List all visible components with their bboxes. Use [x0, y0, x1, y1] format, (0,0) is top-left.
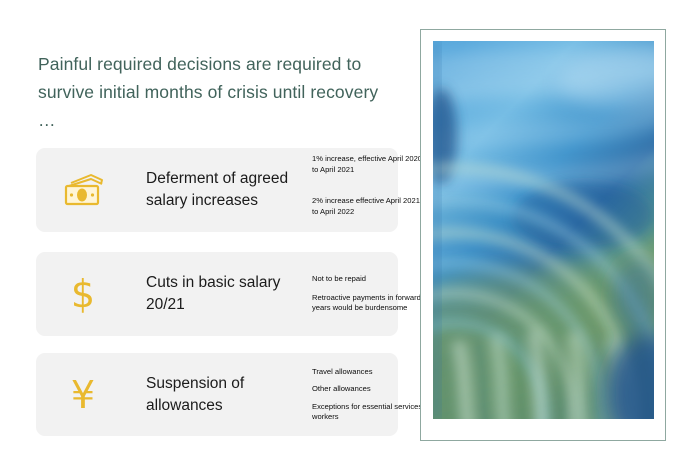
card-heading: Suspension of allowances [146, 353, 306, 436]
card-heading: Cuts in basic salary 20/21 [146, 252, 306, 336]
detail-line: Travel allowances [312, 367, 428, 378]
measure-card-allowances[interactable]: ¥ Suspension of allowances Travel allowa… [36, 353, 398, 436]
detail-line: Exceptions for essential services worker… [312, 402, 428, 423]
left-content-column: Painful required decisions are required … [0, 0, 410, 464]
card-details: Not to be repaid Retroactive payments in… [312, 252, 428, 336]
card-details: Travel allowances Other allowances Excep… [312, 353, 428, 436]
water-ripple-photo [433, 41, 654, 419]
yen-sign-glyph: ¥ [71, 376, 95, 414]
dollar-sign-glyph: $ [71, 275, 95, 313]
detail-line: 1% increase, effective April 2020 to Apr… [312, 154, 428, 175]
banknotes-icon [52, 148, 114, 232]
page-title: Painful required decisions are required … [38, 50, 383, 134]
card-details: 1% increase, effective April 2020 to Apr… [312, 148, 428, 232]
detail-line: Retroactive payments in forward years wo… [312, 293, 428, 314]
detail-line: Not to be repaid [312, 274, 428, 285]
dollar-sign-icon: $ [52, 252, 114, 336]
yen-sign-icon: ¥ [52, 353, 114, 436]
detail-line: 2% increase effective April 2021 to Apri… [312, 196, 428, 217]
card-heading: Deferment of agreed salary increases [146, 148, 306, 232]
measure-card-salary-cuts[interactable]: $ Cuts in basic salary 20/21 Not to be r… [36, 252, 398, 336]
image-panel-frame [420, 29, 666, 441]
measure-card-deferment[interactable]: Deferment of agreed salary increases 1% … [36, 148, 398, 232]
detail-line: Other allowances [312, 384, 428, 395]
